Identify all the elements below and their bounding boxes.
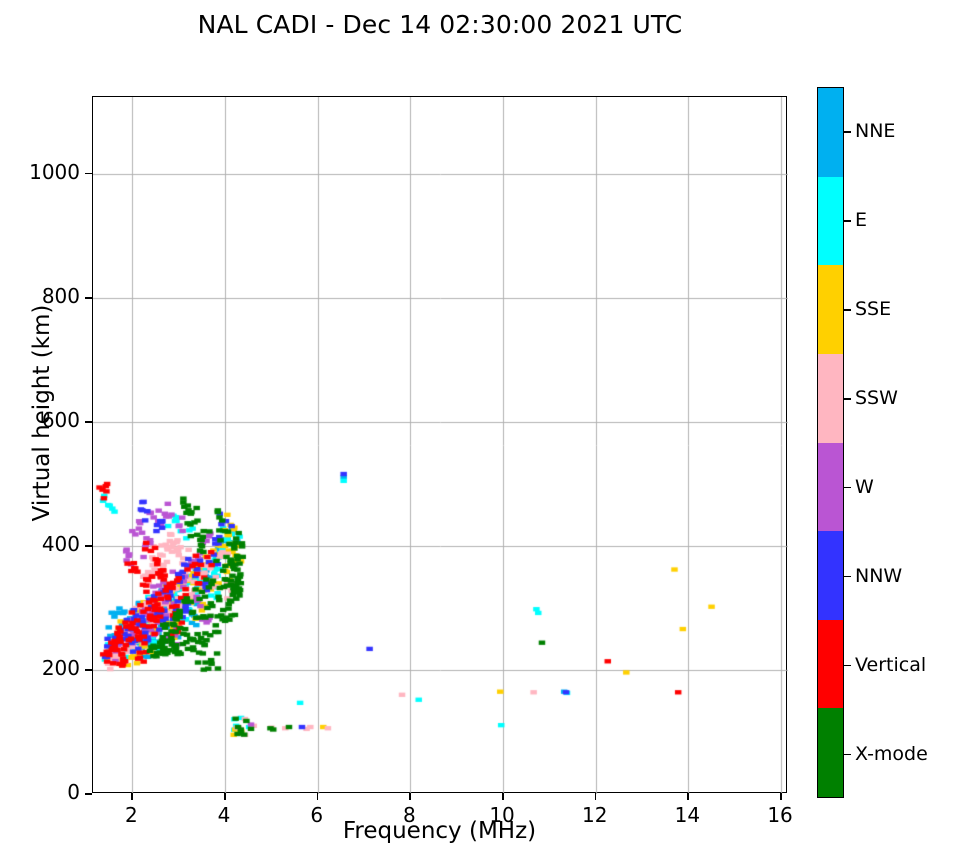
colorbar-label-nne: NNE [855,120,895,142]
colorbar-label-x-mode: X-mode [855,743,928,765]
x-tick-mark [687,793,689,800]
colorbar-segment-sse[interactable] [818,265,843,354]
colorbar-segment-vertical[interactable] [818,620,843,709]
y-tick-mark [85,421,92,423]
y-tick-mark [85,669,92,671]
y-tick-mark [85,793,92,795]
colorbar-label-vertical: Vertical [855,654,926,676]
colorbar-tick-mark [844,309,851,311]
colorbar-segment-ssw[interactable] [818,354,843,443]
x-tick-mark [595,793,597,800]
colorbar-segment-x-mode[interactable] [818,708,843,797]
figure-canvas: NAL CADI - Dec 14 02:30:00 2021 UTC 0200… [0,0,958,857]
x-tick-mark [409,793,411,800]
colorbar-segment-w[interactable] [818,443,843,532]
colorbar-label-ssw: SSW [855,387,898,409]
colorbar-tick-mark [844,754,851,756]
colorbar[interactable] [817,87,844,798]
x-axis-label: Frequency (MHz) [92,818,787,844]
y-tick-label: 0 [10,780,80,804]
page-title: NAL CADI - Dec 14 02:30:00 2021 UTC [0,10,880,39]
plot-area [92,96,787,793]
colorbar-label-e: E [855,209,867,231]
y-tick-mark [85,173,92,175]
x-tick-mark [224,793,226,800]
colorbar-tick-mark [844,665,851,667]
colorbar-label-nnw: NNW [855,565,902,587]
colorbar-tick-mark [844,576,851,578]
x-tick-mark [131,793,133,800]
colorbar-label-w: W [855,476,874,498]
colorbar-segment-e[interactable] [818,177,843,266]
x-tick-mark [317,793,319,800]
colorbar-segment-nnw[interactable] [818,531,843,620]
scatter-data-layer [93,97,788,794]
y-tick-mark [85,297,92,299]
y-tick-mark [85,545,92,547]
y-axis-label: Virtual height (km) [29,103,55,723]
colorbar-tick-mark [844,131,851,133]
colorbar-tick-mark [844,487,851,489]
x-tick-mark [502,793,504,800]
colorbar-segment-nne[interactable] [818,88,843,177]
colorbar-tick-mark [844,220,851,222]
colorbar-tick-mark [844,398,851,400]
x-tick-mark [780,793,782,800]
colorbar-label-sse: SSE [855,298,891,320]
